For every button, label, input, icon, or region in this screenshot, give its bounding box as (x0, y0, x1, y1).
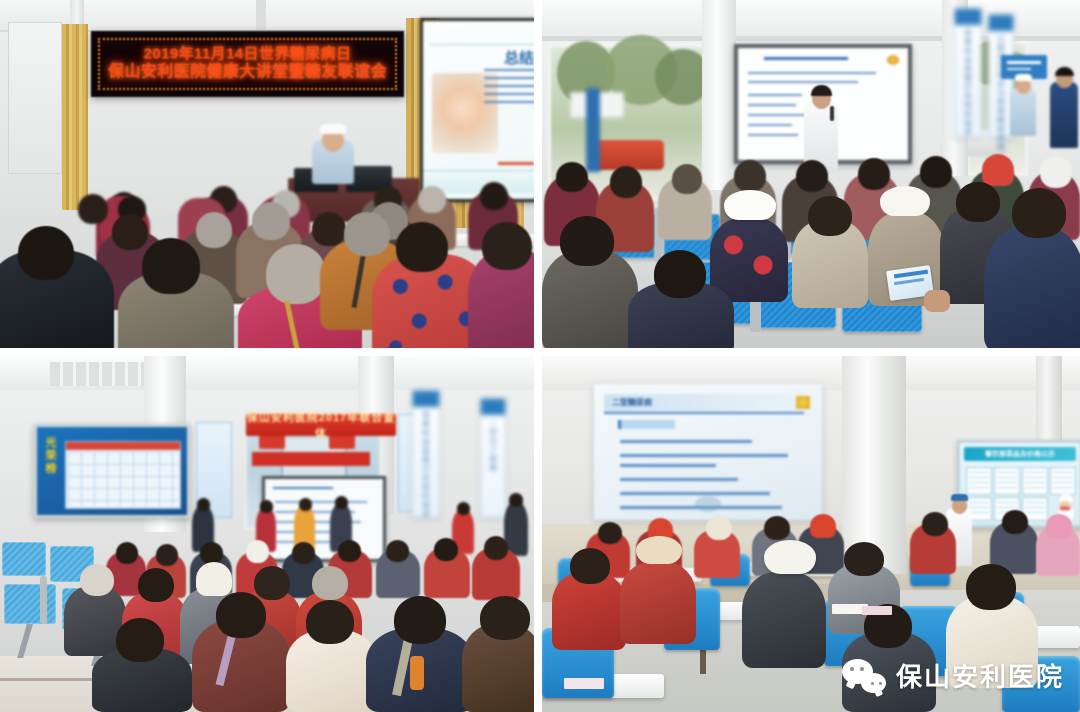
standing-head (457, 502, 470, 515)
audience-head (434, 538, 458, 561)
standing-head (335, 496, 348, 509)
audience-head (292, 542, 315, 564)
audience-head (112, 214, 148, 250)
audience-head (570, 548, 610, 584)
audience-head (138, 568, 174, 602)
audience-head (610, 166, 642, 198)
microphone (830, 106, 834, 121)
standing-head (260, 500, 273, 513)
photo-collage: 2019年11月14日世界糖尿病日 保山安利医院健康大讲堂暨糖友联谊会 ··· … (0, 0, 1080, 712)
standing-head (509, 493, 523, 507)
blue-banner-pole (586, 88, 600, 172)
foreground-person (984, 226, 1080, 348)
straw-hat (636, 536, 682, 564)
slide-title-rule (273, 487, 333, 489)
audience-head (1002, 510, 1028, 534)
slide-logo-icon (887, 55, 899, 65)
board-content (65, 441, 181, 509)
vertical-banner: 患者利益是我们永恒的追求 (954, 8, 982, 138)
white-sun-hat (764, 540, 816, 574)
audience-head (734, 160, 766, 192)
foreground-head (1012, 188, 1066, 238)
foreground-head (480, 596, 530, 640)
slide-header-text: 二型糖尿病 (612, 397, 652, 408)
watermark: 保山安利医院 (842, 657, 1064, 694)
audience-head (344, 212, 390, 256)
menu-board-header: 餐饮部菜品及价格公示 (964, 447, 1076, 461)
slide-subhead (618, 420, 675, 429)
slide-title: 总结 (504, 47, 534, 68)
slide-header-dots: ··· ··· ··· (431, 30, 482, 36)
audience-head (312, 566, 348, 600)
led-banner-line1: 2019年11月14日世界糖尿病日 (100, 47, 395, 64)
foreground-head (306, 600, 354, 644)
audience-head (418, 186, 446, 213)
foreground-head (116, 618, 164, 662)
audience-head (844, 542, 884, 576)
panel-top-left: 2019年11月14日世界糖尿病日 保山安利医院健康大讲堂暨糖友联谊会 ··· … (0, 0, 534, 348)
audience-head-cap (982, 154, 1014, 186)
nurse-cap (1015, 74, 1032, 81)
menu-board-title: 餐饮部菜品及价格公示 (985, 449, 1055, 459)
vertical-banner: 一切为了患者 (480, 398, 506, 518)
slide-watermark (695, 496, 721, 512)
audience-person (710, 218, 788, 302)
audience-head-hat (246, 540, 269, 563)
wechat-icon (842, 659, 886, 693)
audience-head (18, 226, 74, 280)
canteen-pillar (842, 356, 906, 574)
foreground-person (742, 572, 826, 668)
projection-screen: ··· ··· ··· 总结 (420, 18, 534, 202)
chair-arm (40, 576, 47, 624)
vertical-banner-text: 患者利益是我们永恒的追求 (423, 411, 430, 519)
audience-head (956, 182, 1000, 222)
standing-man (1050, 82, 1078, 148)
wall-pillar (702, 0, 736, 190)
ceiling-beam (256, 0, 266, 34)
led-banner-text: 2019年11月14日世界糖尿病日 保山安利医院健康大讲堂暨糖友联谊会 (100, 47, 395, 82)
audience-head-hat (1040, 156, 1072, 188)
audience-head (196, 212, 232, 248)
audience-head (312, 212, 346, 246)
foreground-head (394, 596, 446, 644)
audience-head (386, 540, 409, 562)
audience-head (808, 196, 852, 236)
audience-head (252, 202, 290, 240)
audience-head (142, 238, 200, 294)
white-sun-hat (880, 186, 930, 216)
audience-head (672, 164, 702, 194)
audience-head (78, 194, 108, 224)
nurse-cap (320, 124, 346, 134)
audience-head-hat (196, 562, 232, 596)
audience-head (480, 182, 508, 210)
side-door (8, 22, 62, 174)
slide-bullets (484, 69, 534, 109)
red-event-banner: 保山安利医院2017年联合查体 (246, 414, 396, 436)
audience-head (484, 536, 508, 560)
audience-head-hat (1046, 514, 1072, 538)
standing-head (299, 498, 312, 511)
audience-head (396, 222, 448, 272)
audience-head (254, 566, 290, 600)
audience-head (482, 222, 532, 270)
foreground-head (966, 564, 1016, 610)
whiteboard-title-rule (764, 57, 848, 60)
board-grid (68, 452, 178, 506)
vertical-banner-text: 以精湛的医术为患者解除病痛 (998, 35, 1005, 152)
audience-head (200, 542, 223, 564)
projection-screen (262, 476, 386, 562)
audience-head (598, 522, 622, 544)
paper (564, 678, 604, 689)
paper (862, 606, 892, 615)
standing-head (197, 498, 210, 511)
audience-head (338, 540, 361, 562)
information-board: 光荣榜 (34, 424, 190, 518)
panel-top-right: 患者利益是我们永恒的追求 以精湛的医术为患者解除病痛 (542, 0, 1080, 348)
staff-nurse (1010, 88, 1036, 136)
audience-head (920, 156, 952, 188)
audience-head-hat (80, 564, 114, 596)
audience-head (266, 244, 326, 304)
audience-head (796, 160, 828, 192)
audience-head-hat (706, 516, 732, 540)
panel-bottom-left: 光荣榜 保山安利医院2017年联合查体 患者 (0, 356, 534, 712)
foreground-head (654, 250, 706, 298)
audience-head (116, 542, 138, 564)
foreground-head (560, 216, 614, 266)
board-side-text: 光荣榜 (41, 437, 61, 476)
red-door-banner (252, 452, 370, 466)
led-banner-line2: 保山安利医院健康大讲堂暨糖友联谊会 (100, 63, 395, 81)
led-banner: 2019年11月14日世界糖尿病日 保山安利医院健康大讲堂暨糖友联谊会 (91, 31, 404, 97)
vertical-banner-text: 一切为了患者 (490, 419, 497, 473)
watermark-brand: 保山安利医院 (896, 657, 1064, 694)
vertical-banner-text: 患者利益是我们永恒的追求 (965, 29, 972, 137)
foreground-head (216, 592, 266, 638)
doctor-cap (951, 494, 968, 501)
waiting-chair (2, 542, 46, 576)
audience-head (764, 516, 790, 540)
hand (924, 290, 950, 312)
waiting-chair (4, 584, 56, 624)
curtain-left (62, 24, 88, 210)
slide-logo-icon (796, 396, 810, 409)
vertical-banner: 患者利益是我们永恒的追求 (412, 390, 440, 518)
led-banner-frame: 2019年11月14日世界糖尿病日 保山安利医院健康大讲堂暨糖友联谊会 (98, 38, 397, 90)
audience-head (858, 158, 890, 190)
audience-person (620, 562, 696, 644)
board-header (66, 442, 180, 450)
slide-highlight (498, 162, 534, 165)
audience-head-cap (810, 514, 836, 538)
water-bottle (410, 656, 424, 690)
projection-screen: 二型糖尿病 (594, 384, 822, 520)
audience-head (922, 512, 948, 536)
red-banner-text: 保山安利医院2017年联合查体 (246, 409, 396, 441)
white-sun-hat (724, 190, 776, 220)
audience-head (556, 162, 588, 192)
audience-head (156, 544, 178, 566)
slide-header: 二型糖尿病 (604, 394, 804, 414)
